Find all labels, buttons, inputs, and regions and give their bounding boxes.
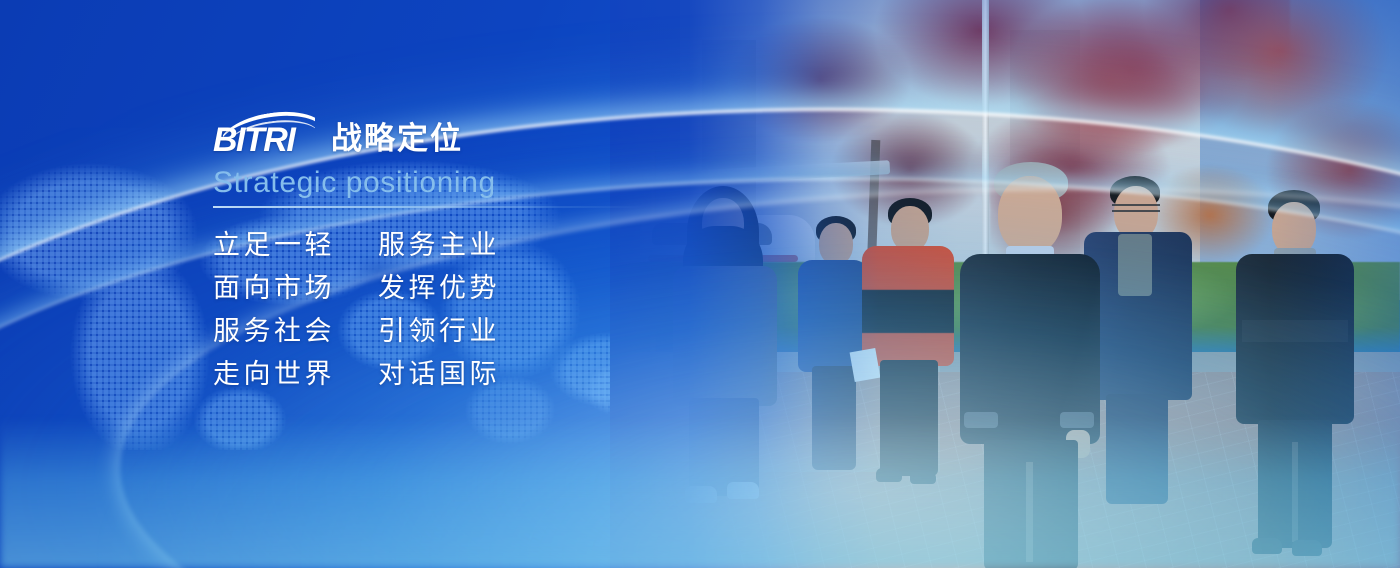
slogan-left: 服务社会 xyxy=(213,310,338,353)
photo-right-tint xyxy=(1270,0,1400,568)
slogan-right: 发挥优势 xyxy=(378,267,503,310)
slogan-left: 面向市场 xyxy=(213,267,338,310)
slogan-left: 走向世界 xyxy=(213,353,338,396)
title-divider xyxy=(213,206,643,208)
slogan-right: 引领行业 xyxy=(378,310,503,353)
bitri-logo: BITRI xyxy=(213,112,317,156)
slogan-row: 立足一轻 服务主业 xyxy=(213,224,683,267)
slogan-row: 面向市场 发挥优势 xyxy=(213,267,683,310)
slogan-row: 服务社会 引领行业 xyxy=(213,310,683,353)
title-row: BITRI 战略定位 xyxy=(213,108,683,156)
banner-text-block: BITRI 战略定位 Strategic positioning 立足一轻 服务… xyxy=(213,108,683,396)
slogan-list: 立足一轻 服务主业 面向市场 发挥优势 服务社会 引领行业 走向世界 对话国际 xyxy=(213,224,683,396)
slogan-left: 立足一轻 xyxy=(213,224,338,267)
bitri-logo-text: BITRI xyxy=(213,123,294,157)
slogan-right: 服务主业 xyxy=(378,224,503,267)
page-title: 战略定位 xyxy=(331,123,463,156)
strategic-positioning-banner: BITRI 战略定位 Strategic positioning 立足一轻 服务… xyxy=(0,0,1400,568)
campus-photo xyxy=(610,0,1400,568)
slogan-right: 对话国际 xyxy=(378,353,503,396)
subtitle-english: Strategic positioning xyxy=(213,166,683,199)
slogan-row: 走向世界 对话国际 xyxy=(213,353,683,396)
